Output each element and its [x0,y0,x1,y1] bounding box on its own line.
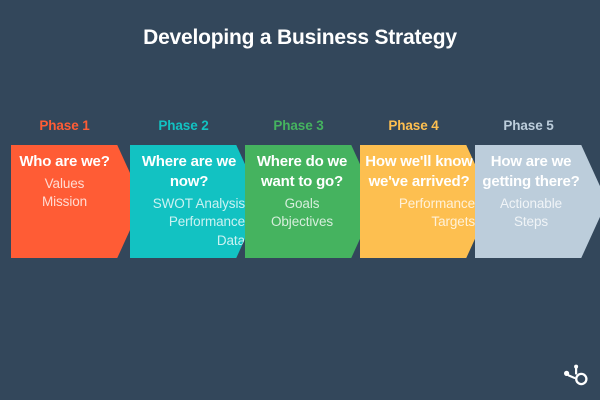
phase-content-2: Where are we now? SWOT Analysis Performa… [130,145,248,258]
page-title: Developing a Business Strategy [0,26,600,50]
phase-block-2[interactable]: Phase 2 Where are we now? SWOT Analysis … [130,118,245,268]
heading-line: Where are [142,153,213,170]
body-line: Performance [362,195,475,214]
heading-line: we? [81,153,110,170]
body-line: Mission [13,193,116,212]
phase-content-4: How we'll know we've arrived? Performanc… [360,145,478,258]
infographic-canvas: Developing a Business Strategy Phase 1 W… [0,0,600,400]
body-line: SWOT Analysis [132,195,245,214]
body-line: Targets [362,213,475,232]
phase-label-5: Phase 5 [475,118,582,133]
phase-label-3: Phase 3 [245,118,352,133]
body-line: Goals [247,195,357,214]
phase-content-3: Where do we want to go? Goals Objectives [245,145,359,258]
phase-arrow-1: Who are we? Values Mission [11,145,143,258]
phase-body-1: Values Mission [13,175,116,212]
phase-content-5: How are we getting there? Actionable Ste… [475,145,587,258]
heading-line: there? [535,173,580,190]
phase-body-4: Performance Targets [362,195,476,232]
phase-heading-1: Who are we? [13,152,116,172]
phase-block-4[interactable]: Phase 4 How we'll know we've arrived? Pe… [360,118,475,268]
phase-arrow-3: Where do we want to go? Goals Objectives [245,145,377,258]
phase-label-4: Phase 4 [360,118,467,133]
phase-body-2: SWOT Analysis Performance Data [132,195,246,251]
phase-arrow-5: How are we getting there? Actionable Ste… [475,145,600,258]
heading-line: to go? [298,173,343,190]
hubspot-sprocket-icon [562,364,588,390]
phase-heading-2: Where are we now? [132,152,246,192]
heading-line: arrived? [412,173,470,190]
heading-line: Who are [19,153,77,170]
phase-body-5: Actionable Steps [477,195,585,232]
heading-line: How we'll [365,153,431,170]
body-line: Steps [477,213,585,232]
phase-label-1: Phase 1 [11,118,118,133]
body-line: Values [13,175,116,194]
body-line: Actionable [477,195,585,214]
phase-heading-4: How we'll know we've arrived? [362,152,476,192]
heading-line: Where do [257,153,324,170]
phase-content-1: Who are we? Values Mission [11,145,118,258]
phase-arrow-2: Where are we now? SWOT Analysis Performa… [130,145,262,258]
phase-row: Phase 1 Who are we? Values Mission Phase… [11,118,591,268]
phase-block-3[interactable]: Phase 3 Where do we want to go? Goals Ob… [245,118,360,268]
phase-block-5[interactable]: Phase 5 How are we getting there? Action… [475,118,590,268]
phase-block-1[interactable]: Phase 1 Who are we? Values Mission [11,118,126,268]
phase-heading-5: How are we getting there? [477,152,585,192]
phase-label-2: Phase 2 [130,118,237,133]
body-line: Data [132,232,245,251]
phase-body-3: Goals Objectives [247,195,357,232]
phase-heading-3: Where do we want to go? [247,152,357,192]
phase-arrow-4: How we'll know we've arrived? Performanc… [360,145,492,258]
body-line: Performance [132,213,245,232]
body-line: Objectives [247,213,357,232]
heading-line: How are [491,153,548,170]
